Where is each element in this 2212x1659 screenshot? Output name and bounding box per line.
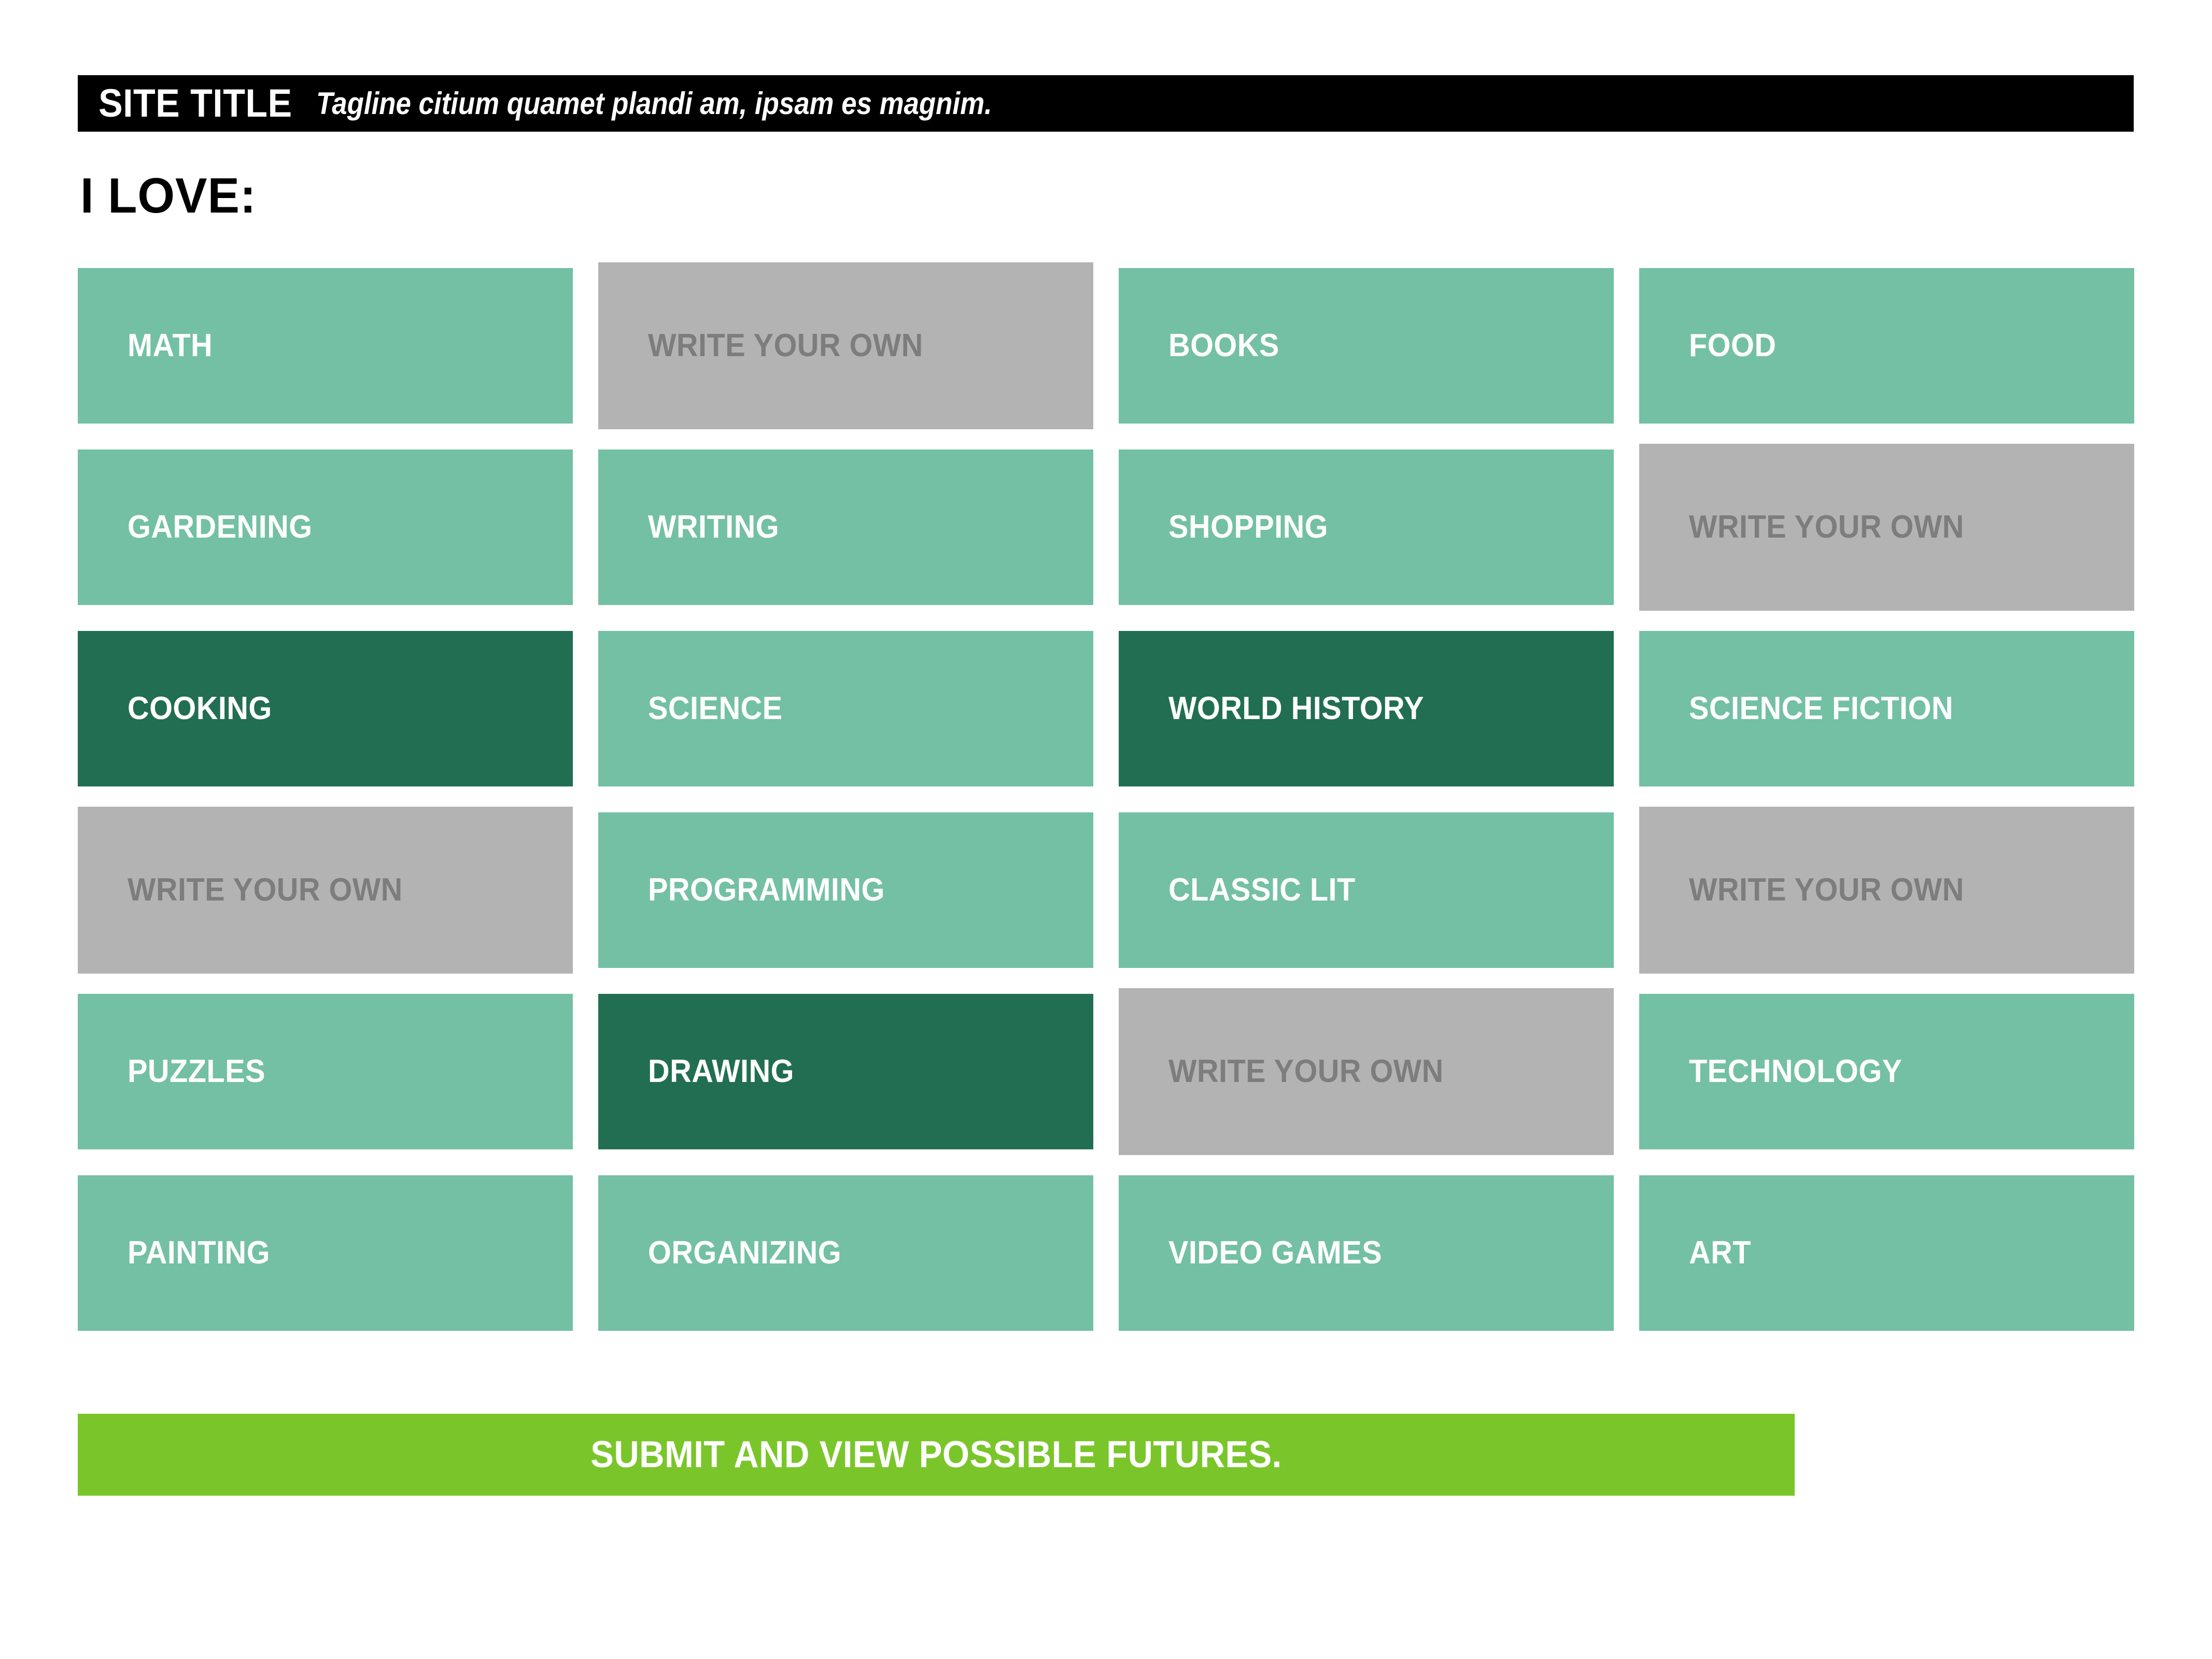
tile-video-games[interactable]: VIDEO GAMES (1119, 1175, 1614, 1331)
tile-label: COOKING (128, 693, 272, 725)
tile-drawing[interactable]: DRAWING (598, 994, 1093, 1149)
tile-label: TECHNOLOGY (1689, 1056, 1902, 1088)
tile-books[interactable]: BOOKS (1119, 268, 1614, 424)
tile-label: WRITE YOUR OWN (1689, 511, 1964, 543)
tile-label: ORGANIZING (648, 1237, 841, 1269)
tile-cooking[interactable]: COOKING (78, 631, 573, 786)
tile-label: MATH (128, 330, 213, 362)
tile-label: WRITING (648, 511, 779, 543)
site-tagline: Tagline citium quamet plandi am, ipsam e… (316, 88, 992, 119)
submit-button-label: SUBMIT AND VIEW POSSIBLE FUTURES. (590, 1436, 1282, 1473)
tile-write-your-own[interactable]: WRITE YOUR OWN (1639, 807, 2134, 974)
tile-label: PUZZLES (128, 1056, 265, 1088)
tile-label: SHOPPING (1168, 511, 1328, 543)
tile-label: VIDEO GAMES (1168, 1237, 1382, 1269)
tile-label: GARDENING (128, 511, 313, 543)
tile-label: SCIENCE (648, 693, 783, 725)
tile-science[interactable]: SCIENCE (598, 631, 1093, 786)
tile-label: WORLD HISTORY (1168, 693, 1424, 725)
tile-write-your-own[interactable]: WRITE YOUR OWN (1119, 988, 1614, 1155)
tile-label: WRITE YOUR OWN (1689, 874, 1964, 906)
tile-label: PROGRAMMING (648, 874, 885, 906)
submit-button[interactable]: SUBMIT AND VIEW POSSIBLE FUTURES. (78, 1414, 1795, 1496)
tile-writing[interactable]: WRITING (598, 449, 1093, 605)
tile-label: WRITE YOUR OWN (648, 330, 923, 362)
tile-write-your-own[interactable]: WRITE YOUR OWN (598, 262, 1093, 429)
page-title: I LOVE: (80, 171, 257, 221)
tile-food[interactable]: FOOD (1639, 268, 2134, 424)
tile-technology[interactable]: TECHNOLOGY (1639, 994, 2134, 1149)
tile-label: SCIENCE FICTION (1689, 693, 1953, 725)
tile-label: CLASSIC LIT (1168, 874, 1356, 906)
tile-label: FOOD (1689, 330, 1776, 362)
site-title: SITE TITLE (98, 84, 292, 123)
tile-art[interactable]: ART (1639, 1175, 2134, 1331)
tile-label: WRITE YOUR OWN (128, 874, 403, 906)
tile-world-history[interactable]: WORLD HISTORY (1119, 631, 1614, 786)
tile-painting[interactable]: PAINTING (78, 1175, 573, 1331)
tile-programming[interactable]: PROGRAMMING (598, 812, 1093, 968)
tile-gardening[interactable]: GARDENING (78, 449, 573, 605)
tile-label: DRAWING (648, 1056, 794, 1088)
tile-label: ART (1689, 1237, 1751, 1269)
tile-label: WRITE YOUR OWN (1168, 1056, 1444, 1088)
tile-write-your-own[interactable]: WRITE YOUR OWN (78, 807, 573, 974)
tile-write-your-own[interactable]: WRITE YOUR OWN (1639, 444, 2134, 611)
tile-shopping[interactable]: SHOPPING (1119, 449, 1614, 605)
tile-label: BOOKS (1168, 330, 1279, 362)
tile-puzzles[interactable]: PUZZLES (78, 994, 573, 1149)
page-root: SITE TITLE Tagline citium quamet plandi … (0, 0, 2212, 1659)
interest-tile-grid: MATH WRITE YOUR OWN BOOKS FOOD GARDENING… (78, 268, 2134, 1331)
tile-science-fiction[interactable]: SCIENCE FICTION (1639, 631, 2134, 786)
tile-organizing[interactable]: ORGANIZING (598, 1175, 1093, 1331)
site-header-bar: SITE TITLE Tagline citium quamet plandi … (78, 75, 2134, 132)
tile-classic-lit[interactable]: CLASSIC LIT (1119, 812, 1614, 968)
tile-math[interactable]: MATH (78, 268, 573, 424)
tile-label: PAINTING (128, 1237, 270, 1269)
